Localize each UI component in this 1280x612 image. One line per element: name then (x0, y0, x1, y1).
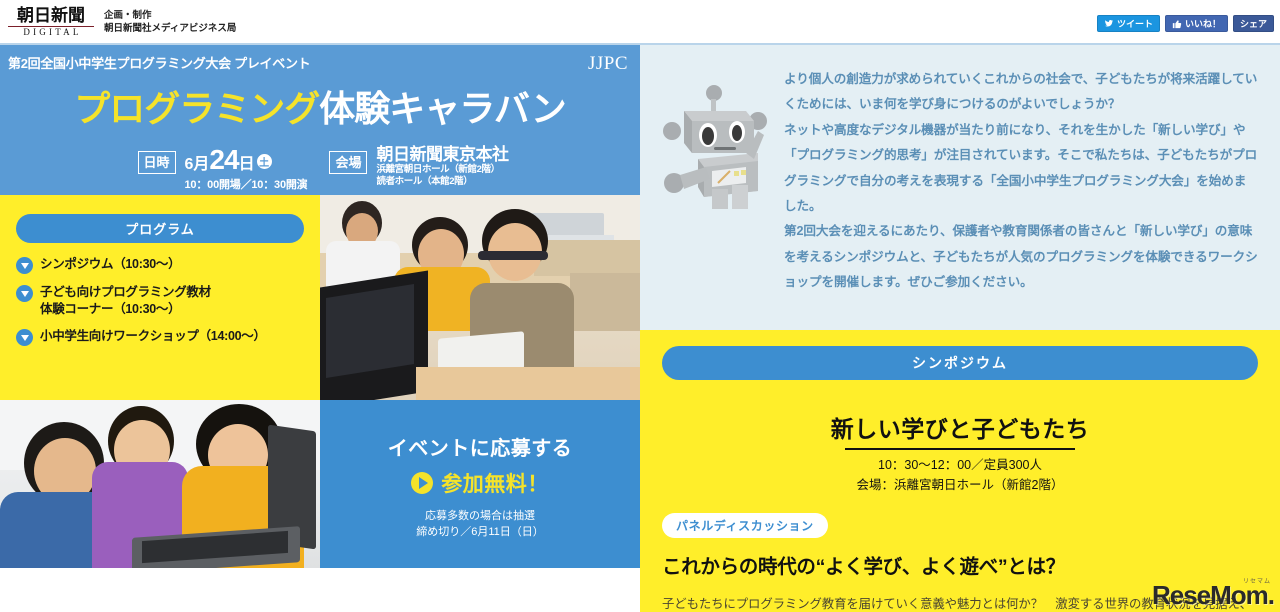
logo-kanji: 朝日新聞 (17, 7, 85, 25)
cta-note-line2: 締め切り／6月11日（日） (416, 524, 544, 540)
banner-title-white: 体験キャラバン (319, 88, 565, 129)
symposium-meta-line1: 10：30〜12：00／定員300人 (662, 455, 1258, 475)
facebook-like-button[interactable]: いいね！ (1165, 15, 1228, 32)
social-buttons: ツイート いいね！ シェア (1097, 15, 1274, 32)
cta-note-line1: 応募多数の場合は抽選 (416, 508, 544, 524)
date-body: 6月24日土 10：00開場／10：30開演 (185, 146, 308, 192)
intro-panel: より個人の創造力が求められていくこれからの社会で、子どもたちが将来活躍していくた… (640, 45, 1280, 330)
program-heading: プログラム (16, 214, 304, 243)
intro-text: より個人の創造力が求められていくこれからの社会で、子どもたちが将来活躍していくた… (784, 67, 1258, 330)
date-day-unit: 日 (239, 150, 255, 174)
venue-sub-2: 読者ホール（本館2階） (376, 176, 508, 188)
twitter-tweet-button[interactable]: ツイート (1097, 15, 1160, 32)
banner-meta: 日時 6月24日土 10：00開場／10：30開演 会場 朝日新聞東京本社 浜離… (0, 146, 640, 192)
venue-main: 朝日新聞東京本社 (376, 146, 508, 164)
cta-free-label: 参加無料！ (441, 468, 549, 498)
panel-discussion-body: 子どもたちにプログラミング教育を届けていく意義や魅力とは何か？ 激変する世界の教… (662, 593, 1258, 612)
share-label: シェア (1240, 17, 1267, 30)
triangle-down-icon (16, 257, 33, 274)
triangle-down-icon (16, 285, 33, 302)
symposium-heading: シンポジウム (662, 346, 1258, 380)
date-day: 24 (209, 146, 238, 174)
panel-discussion-tag: パネルディスカッション (662, 513, 828, 538)
page-root: 朝日新聞 DIGITAL 企画・制作 朝日新聞社メディアビジネス局 ツイート い… (0, 0, 1280, 612)
banner-kicker: 第2回全国小中学生プログラミング大会 プレイベント (8, 53, 310, 72)
program-item-label: 小中学生向けワークショップ（14:00〜） (40, 328, 266, 345)
asahi-shimbun-digital-logo[interactable]: 朝日新聞 DIGITAL (8, 7, 94, 38)
photo-kids-with-mentor (0, 400, 320, 568)
banner-top-row: 第2回全国小中学生プログラミング大会 プレイベント JJPC (0, 45, 640, 75)
venue-tag: 会場 (329, 151, 367, 174)
symposium-title-underline (845, 448, 1075, 450)
date-group: 日時 6月24日土 10：00開場／10：30開演 (138, 146, 308, 192)
intro-paragraph-2: ネットや高度なデジタル機器が当たり前になり、それを生かした「新しい学び」や「プロ… (784, 118, 1258, 220)
triangle-down-icon (16, 329, 33, 346)
thumbs-up-icon (1172, 19, 1182, 29)
symposium-meta-line2: 会場：浜離宮朝日ホール（新館2階） (662, 475, 1258, 495)
brand-subtitle-line1: 企画・制作 (104, 9, 236, 22)
brand-subtitle-line2: 朝日新聞社メディアビジネス局 (104, 22, 236, 35)
cta-note: 応募多数の場合は抽選 締め切り／6月11日（日） (416, 508, 544, 540)
program-photo-row: プログラム シンポジウム（10:30〜） 子ども向けプログラミング教材 体験コー… (0, 195, 640, 400)
program-item: 子ども向けプログラミング教材 体験コーナー（10:30〜） (16, 284, 304, 318)
date-line: 6月24日土 (185, 146, 308, 174)
cta-free-row: 参加無料！ (411, 468, 549, 498)
brand[interactable]: 朝日新聞 DIGITAL 企画・制作 朝日新聞社メディアビジネス局 (0, 7, 236, 38)
banner-title-yellow: プログラミング (74, 88, 319, 129)
brand-subtitle: 企画・制作 朝日新聞社メディアビジネス局 (104, 9, 236, 35)
program-item: 小中学生向けワークショップ（14:00〜） (16, 328, 304, 346)
event-banner: 第2回全国小中学生プログラミング大会 プレイベント JJPC プログラミング体験… (0, 45, 640, 195)
like-label: いいね！ (1185, 17, 1221, 30)
event-apply-cta[interactable]: イベントに応募する 参加無料！ 応募多数の場合は抽選 締め切り／6月11日（日） (320, 400, 640, 568)
date-subtext: 10：00開場／10：30開演 (185, 176, 308, 192)
program-panel: プログラム シンポジウム（10:30〜） 子ども向けプログラミング教材 体験コー… (0, 195, 320, 400)
date-tag: 日時 (138, 151, 176, 174)
date-month: 6月 (185, 150, 210, 174)
intro-paragraph-3: 第2回大会を迎えるにあたり、保護者や教育関係者の皆さんと「新しい学び」の意味を考… (784, 219, 1258, 295)
photo-cta-row: イベントに応募する 参加無料！ 応募多数の場合は抽選 締め切り／6月11日（日） (0, 400, 640, 568)
robot-illustration (654, 67, 784, 330)
symposium-title: 新しい学びと子どもたち (662, 410, 1258, 444)
site-header: 朝日新聞 DIGITAL 企画・制作 朝日新聞社メディアビジネス局 ツイート い… (0, 0, 1280, 44)
banner-title: プログラミング体験キャラバン (0, 80, 640, 132)
venue-sub-1: 浜離宮朝日ホール（新館2階） (376, 164, 508, 176)
jjpc-logo: JJPC (588, 53, 628, 75)
logo-digital: DIGITAL (8, 26, 94, 38)
cta-title: イベントに応募する (388, 432, 573, 461)
intro-paragraph-1: より個人の創造力が求められていくこれからの社会で、子どもたちが将来活躍していくた… (784, 67, 1258, 118)
share-button[interactable]: シェア (1233, 15, 1274, 32)
robot-icon (654, 79, 774, 209)
panel-discussion-title: これからの時代の“よく学び、よく遊べ”とは？ (662, 550, 1258, 579)
left-column: 第2回全国小中学生プログラミング大会 プレイベント JJPC プログラミング体験… (0, 45, 640, 612)
symposium-meta: 10：30〜12：00／定員300人 会場：浜離宮朝日ホール（新館2階） (662, 455, 1258, 495)
play-icon (411, 472, 433, 494)
twitter-bird-icon (1104, 19, 1114, 28)
right-column: より個人の創造力が求められていくこれからの社会で、子どもたちが将来活躍していくた… (640, 45, 1280, 612)
program-list: シンポジウム（10:30〜） 子ども向けプログラミング教材 体験コーナー（10:… (16, 256, 304, 346)
venue-group: 会場 朝日新聞東京本社 浜離宮朝日ホール（新館2階） 読者ホール（本館2階） (329, 146, 508, 188)
program-item: シンポジウム（10:30〜） (16, 256, 304, 274)
venue-body: 朝日新聞東京本社 浜離宮朝日ホール（新館2階） 読者ホール（本館2階） (376, 146, 508, 188)
photo-kids-at-computers (320, 195, 640, 400)
date-weekday-badge: 土 (257, 154, 272, 169)
tweet-label: ツイート (1117, 17, 1153, 30)
program-item-label: シンポジウム（10:30〜） (40, 256, 180, 273)
symposium-panel: シンポジウム 新しい学びと子どもたち 10：30〜12：00／定員300人 会場… (640, 330, 1280, 612)
program-item-label: 子ども向けプログラミング教材 体験コーナー（10:30〜） (40, 284, 211, 318)
